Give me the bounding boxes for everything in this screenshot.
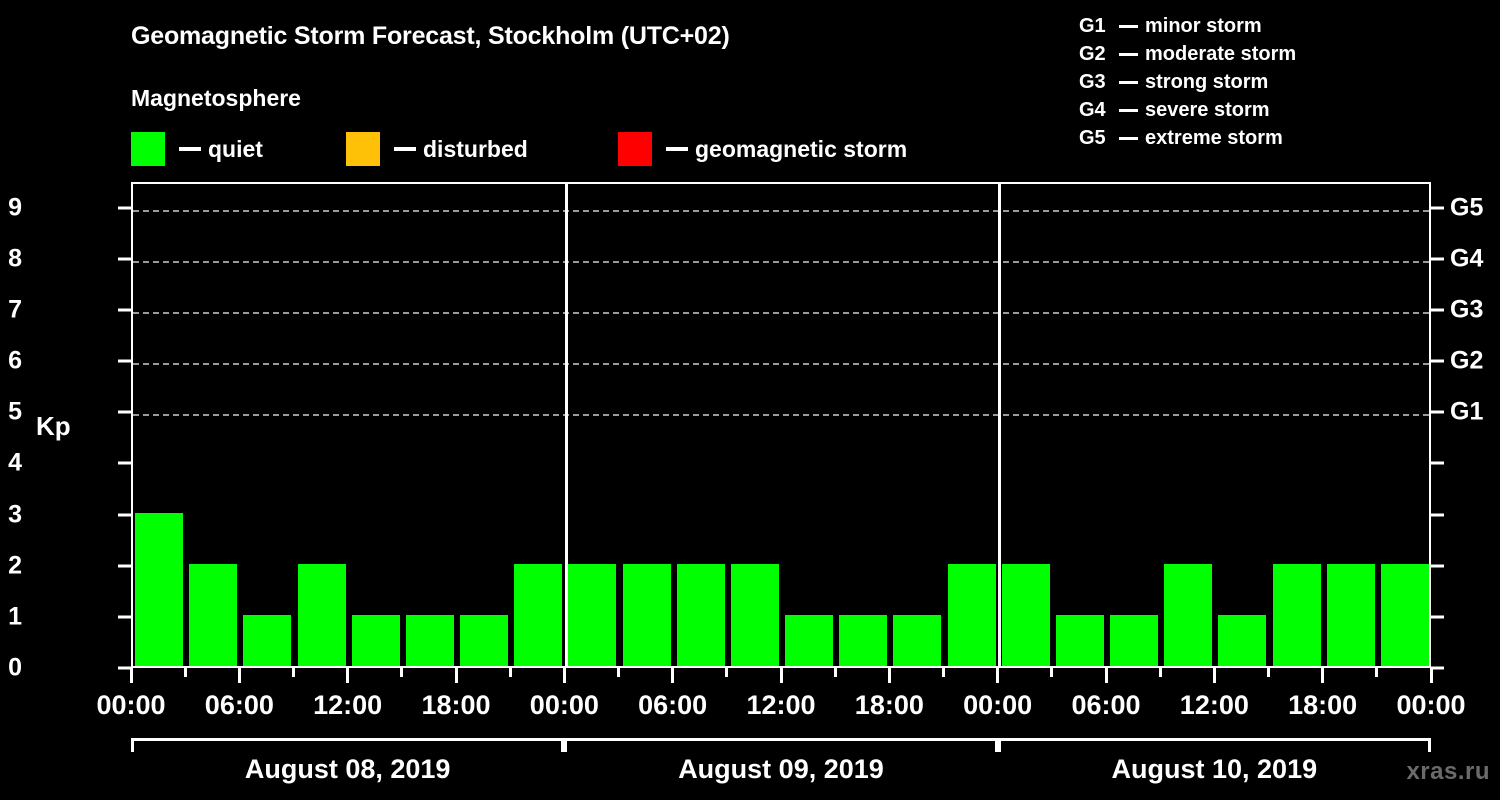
g-legend-row-g4: G4severe storm (1079, 96, 1479, 124)
gridline-kp-6 (133, 363, 1429, 365)
y-tick-mark-4 (118, 462, 131, 465)
bar (1164, 564, 1212, 666)
g-legend-description: severe storm (1145, 99, 1270, 122)
bar (893, 615, 941, 666)
x-tick-label: 00:00 (530, 690, 599, 721)
bar (1002, 564, 1050, 666)
gridline-kp-7 (133, 312, 1429, 314)
bar (1273, 564, 1321, 666)
x-minor-tick (942, 668, 945, 677)
g-legend-description: extreme storm (1145, 127, 1283, 150)
bar (460, 615, 508, 666)
x-tick-label: 12:00 (1180, 690, 1249, 721)
g-legend-dash-icon (1119, 53, 1138, 56)
right-axis-tick-0 (1431, 667, 1444, 670)
y-tick-label-8: 8 (0, 244, 22, 273)
y-tick-mark-2 (118, 564, 131, 567)
disturbed-swatch (346, 132, 380, 166)
x-minor-tick (509, 668, 512, 677)
bar (948, 564, 996, 666)
x-tick-label: 00:00 (1396, 690, 1465, 721)
x-tick-label: 06:00 (638, 690, 707, 721)
g-legend-code: G2 (1079, 43, 1112, 66)
g-legend-row-g2: G2moderate storm (1079, 40, 1479, 68)
bar (1327, 564, 1375, 666)
plot-area (131, 182, 1431, 668)
y-tick-mark-3 (118, 513, 131, 516)
x-major-tick (1430, 668, 1433, 683)
y-tick-label-5: 5 (0, 398, 22, 427)
x-minor-tick (1159, 668, 1162, 677)
g-legend-description: strong storm (1145, 71, 1268, 94)
legend-item-geomagnetic-storm: geomagnetic storm (618, 131, 907, 167)
legend-dash-icon (179, 147, 201, 151)
chart-canvas: Geomagnetic Storm Forecast, Stockholm (U… (0, 0, 1500, 800)
legend-dash-icon (666, 147, 688, 151)
x-tick-label: 00:00 (96, 690, 165, 721)
y-tick-mark-7 (118, 308, 131, 311)
x-tick-label: 18:00 (421, 690, 490, 721)
x-minor-tick (834, 668, 837, 677)
g-legend-code: G4 (1079, 99, 1112, 122)
x-major-tick (1321, 668, 1324, 683)
x-major-tick (888, 668, 891, 683)
right-axis-tick-3 (1431, 513, 1444, 516)
x-minor-tick (1375, 668, 1378, 677)
legend-label: quiet (208, 136, 263, 163)
day-label: August 09, 2019 (564, 754, 997, 785)
legend-label: geomagnetic storm (695, 136, 907, 163)
right-axis-tick-7 (1431, 308, 1444, 311)
x-minor-tick (1267, 668, 1270, 677)
g-legend-row-g1: G1minor storm (1079, 12, 1479, 40)
right-axis-tick-8 (1431, 257, 1444, 260)
page-title: Geomagnetic Storm Forecast, Stockholm (U… (131, 22, 730, 51)
y-tick-mark-8 (118, 257, 131, 260)
g-legend-code: G1 (1079, 15, 1112, 38)
x-major-tick (455, 668, 458, 683)
geomagnetic-storm-swatch (618, 132, 652, 166)
y-tick-label-6: 6 (0, 347, 22, 376)
bar (1218, 615, 1266, 666)
gridline-kp-9 (133, 210, 1429, 212)
y-tick-mark-9 (118, 206, 131, 209)
bar (731, 564, 779, 666)
gridline-kp-8 (133, 261, 1429, 263)
x-tick-label: 18:00 (1288, 690, 1357, 721)
y-tick-label-2: 2 (0, 551, 22, 580)
right-axis-tick-1 (1431, 615, 1444, 618)
bar (1110, 615, 1158, 666)
bar (785, 615, 833, 666)
x-tick-label: 18:00 (855, 690, 924, 721)
right-axis-tick-6 (1431, 360, 1444, 363)
g-axis-label-g1: G1 (1450, 398, 1483, 427)
g-legend-row-g3: G3strong storm (1079, 68, 1479, 96)
day-bracket (564, 738, 997, 752)
bar (623, 564, 671, 666)
legend-dash-icon (394, 147, 416, 151)
x-major-tick (671, 668, 674, 683)
bar (568, 564, 616, 666)
x-tick-label: 12:00 (313, 690, 382, 721)
y-tick-label-3: 3 (0, 500, 22, 529)
day-bracket (998, 738, 1431, 752)
day-label: August 08, 2019 (131, 754, 564, 785)
x-minor-tick (184, 668, 187, 677)
bar (406, 615, 454, 666)
x-major-tick (346, 668, 349, 683)
y-tick-label-0: 0 (0, 654, 22, 683)
x-minor-tick (1050, 668, 1053, 677)
chart-subtitle: Magnetosphere (131, 85, 301, 112)
g-legend-dash-icon (1119, 137, 1138, 140)
bar (839, 615, 887, 666)
g-legend-description: moderate storm (1145, 43, 1296, 66)
quiet-swatch (131, 132, 165, 166)
y-tick-mark-1 (118, 615, 131, 618)
y-axis-title: Kp (36, 411, 71, 442)
g-legend-code: G3 (1079, 71, 1112, 94)
bar (1381, 564, 1429, 666)
day-label: August 10, 2019 (998, 754, 1431, 785)
bar (677, 564, 725, 666)
x-major-tick (780, 668, 783, 683)
x-minor-tick (617, 668, 620, 677)
bar (189, 564, 237, 666)
right-axis-tick-5 (1431, 411, 1444, 414)
g-axis-label-g2: G2 (1450, 347, 1483, 376)
g-axis-label-g3: G3 (1450, 295, 1483, 324)
g-legend-dash-icon (1119, 109, 1138, 112)
x-tick-label: 06:00 (205, 690, 274, 721)
x-minor-tick (725, 668, 728, 677)
right-axis-tick-9 (1431, 206, 1444, 209)
bar (135, 513, 183, 666)
g-legend-dash-icon (1119, 25, 1138, 28)
x-major-tick (1105, 668, 1108, 683)
bar (298, 564, 346, 666)
x-major-tick (130, 668, 133, 683)
x-major-tick (996, 668, 999, 683)
bar (1056, 615, 1104, 666)
x-tick-label: 12:00 (746, 690, 815, 721)
day-bracket (131, 738, 564, 752)
y-tick-label-7: 7 (0, 295, 22, 324)
y-tick-label-4: 4 (0, 449, 22, 478)
gridline-kp-5 (133, 414, 1429, 416)
g-legend-row-g5: G5extreme storm (1079, 124, 1479, 152)
legend-item-quiet: quiet (131, 131, 263, 167)
x-major-tick (1213, 668, 1216, 683)
bar (243, 615, 291, 666)
legend-label: disturbed (423, 136, 528, 163)
bar (514, 564, 562, 666)
y-tick-mark-6 (118, 360, 131, 363)
y-tick-label-9: 9 (0, 193, 22, 222)
x-major-tick (238, 668, 241, 683)
g-legend-description: minor storm (1145, 15, 1262, 38)
g-legend-dash-icon (1119, 81, 1138, 84)
bar (352, 615, 400, 666)
y-tick-mark-5 (118, 411, 131, 414)
plot-inner (133, 184, 1429, 666)
right-axis-tick-2 (1431, 564, 1444, 567)
x-major-tick (563, 668, 566, 683)
right-axis-tick-4 (1431, 462, 1444, 465)
watermark: xras.ru (1406, 758, 1490, 786)
x-minor-tick (400, 668, 403, 677)
g-axis-label-g4: G4 (1450, 244, 1483, 273)
x-minor-tick (292, 668, 295, 677)
x-tick-label: 00:00 (963, 690, 1032, 721)
legend-item-disturbed: disturbed (346, 131, 528, 167)
g-scale-legend: G1minor stormG2moderate stormG3strong st… (1079, 12, 1479, 152)
y-tick-label-1: 1 (0, 602, 22, 631)
x-tick-label: 06:00 (1071, 690, 1140, 721)
g-axis-label-g5: G5 (1450, 193, 1483, 222)
g-legend-code: G5 (1079, 127, 1112, 150)
